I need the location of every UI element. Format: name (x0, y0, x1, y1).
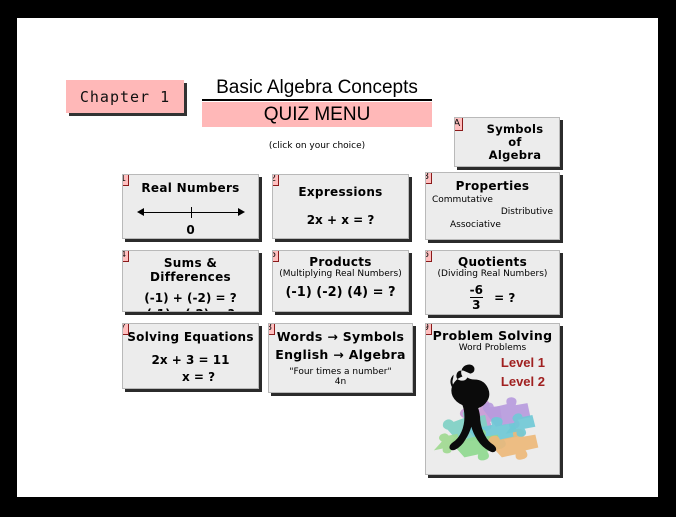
number-line-tick (191, 207, 192, 218)
badge-1: 1 (122, 174, 129, 186)
tile-quotients[interactable]: 6 Quotients (Dividing Real Numbers) -6 3… (425, 250, 560, 315)
tile-2-content: Expressions 2x + x = ? (273, 175, 408, 238)
tile-9-title: Problem Solving (426, 324, 559, 343)
tile-9-level-2[interactable]: Level 2 (426, 372, 559, 391)
tile-9-subtitle: Word Problems (426, 343, 559, 353)
slide-canvas: Chapter 1 Basic Algebra Concepts QUIZ ME… (17, 18, 658, 497)
tile-1-title: Real Numbers (123, 175, 258, 195)
tile-8-content: Words → Symbols English → Algebra "Four … (269, 324, 412, 392)
tile-products[interactable]: 5 Products (Multiplying Real Numbers) (-… (272, 250, 409, 312)
property-distributive: Distributive (501, 207, 553, 217)
tile-symbols-of-algebra[interactable]: 1A Symbols of Algebra (454, 117, 560, 167)
chapter-badge: Chapter 1 (66, 80, 184, 113)
tile-7-example-1: 2x + 3 = 11 (123, 344, 258, 369)
badge-8: 8 (268, 323, 275, 335)
fraction-numerator: -6 (470, 284, 483, 296)
tile-4-example-1: (-1) + (-2) = ? (123, 284, 258, 306)
tile-2-example: 2x + x = ? (273, 199, 408, 227)
tile-4-title: Sums & Differences (123, 251, 258, 284)
property-commutative: Commutative (432, 195, 493, 205)
tile-6-subtitle: (Dividing Real Numbers) (426, 269, 559, 279)
fraction: -6 3 (470, 284, 483, 311)
tile-9-level-1[interactable]: Level 1 (426, 353, 559, 372)
number-line-icon (137, 204, 245, 222)
tile-8-title-2: English → Algebra (269, 344, 412, 362)
tile-3-content: Properties Commutative Distributive Asso… (426, 173, 559, 239)
fraction-denominator: 3 (470, 299, 483, 311)
tile-8-title-1: Words → Symbols (269, 324, 412, 344)
badge-2: 2 (272, 174, 279, 186)
title-block: Basic Algebra Concepts QUIZ MENU (202, 76, 432, 127)
page-title: Basic Algebra Concepts (202, 76, 432, 101)
arrow-right-icon (238, 208, 245, 216)
tile-6-content: Quotients (Dividing Real Numbers) -6 3 =… (426, 251, 559, 314)
puzzle-pieces-icon (434, 397, 538, 460)
tile-1a-line2: of (508, 136, 522, 149)
tile-4-example-2: (-1) – (-2) = ? (123, 306, 258, 312)
tile-2-title: Expressions (273, 175, 408, 199)
tile-1a-line1: Symbols (487, 123, 544, 136)
tile-1-content: Real Numbers 0 (123, 175, 258, 238)
tile-5-title: Products (273, 251, 408, 269)
tile-5-content: Products (Multiplying Real Numbers) (-1)… (273, 251, 408, 311)
tile-6-equation: -6 3 = ? (426, 279, 559, 311)
tile-problem-solving[interactable]: 9 Problem Solving Word Problems Level 1 … (425, 323, 560, 475)
badge-1a: 1A (454, 117, 463, 131)
tile-7-title: Solving Equations (123, 324, 258, 344)
tile-9-content: Problem Solving Word Problems Level 1 Le… (426, 324, 559, 474)
badge-9: 9 (425, 323, 432, 335)
tile-sums-and-differences[interactable]: 4 Sums & Differences (-1) + (-2) = ? (-1… (122, 250, 259, 312)
tile-1a-content: Symbols of Algebra (455, 118, 559, 166)
badge-3: 3 (425, 172, 432, 184)
badge-5: 5 (272, 250, 279, 262)
tile-7-content: Solving Equations 2x + 3 = 11 x = ? (123, 324, 258, 388)
badge-6: 6 (425, 250, 432, 262)
tile-words-to-symbols[interactable]: 8 Words → Symbols English → Algebra "Fou… (268, 323, 413, 393)
badge-4: 4 (122, 250, 129, 262)
tile-8-example-2: 4n (269, 377, 412, 387)
tile-5-example: (-1) (-2) (4) = ? (273, 279, 408, 300)
tile-6-title: Quotients (426, 251, 559, 269)
tile-3-title: Properties (426, 173, 559, 193)
badge-7: 7 (122, 323, 129, 335)
tile-properties[interactable]: 3 Properties Commutative Distributive As… (425, 172, 560, 240)
tile-7-example-2: x = ? (123, 369, 258, 386)
tile-4-content: Sums & Differences (-1) + (-2) = ? (-1) … (123, 251, 258, 311)
properties-list: Commutative Distributive Associative (426, 195, 559, 235)
tile-1a-line3: Algebra (489, 149, 542, 162)
tile-solving-equations[interactable]: 7 Solving Equations 2x + 3 = 11 x = ? (122, 323, 259, 389)
tile-real-numbers[interactable]: 1 Real Numbers 0 (122, 174, 259, 239)
tile-6-equals: = ? (494, 291, 515, 305)
page-subtitle: QUIZ MENU (202, 102, 432, 127)
chapter-label: Chapter 1 (80, 88, 170, 106)
tile-5-subtitle: (Multiplying Real Numbers) (273, 269, 408, 279)
click-hint-text: (click on your choice) (202, 141, 432, 151)
property-associative: Associative (450, 220, 501, 230)
tile-expressions[interactable]: 2 Expressions 2x + x = ? (272, 174, 409, 239)
tile-8-example-1: "Four times a number" (269, 362, 412, 377)
tile-1-zero-label: 0 (123, 223, 258, 237)
